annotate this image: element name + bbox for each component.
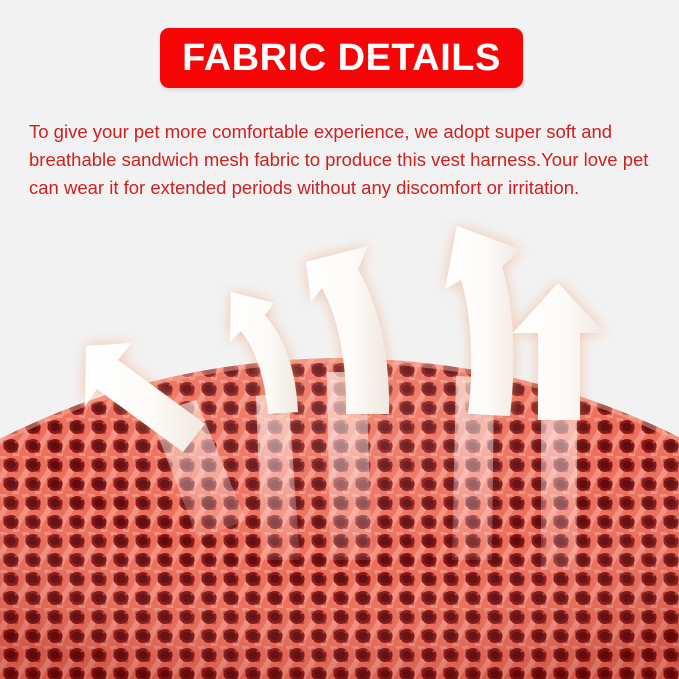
fabric-illustration: [0, 0, 679, 679]
fabric-details-title-badge: FABRIC DETAILS: [160, 28, 523, 88]
fabric-description-text: To give your pet more comfortable experi…: [29, 118, 651, 202]
airflow-trail-5: [541, 398, 577, 570]
page-title: FABRIC DETAILS: [182, 39, 501, 77]
fabric-illustration-svg: [0, 0, 679, 679]
fabric-details-panel: FABRIC DETAILS To give your pet more com…: [0, 0, 679, 679]
